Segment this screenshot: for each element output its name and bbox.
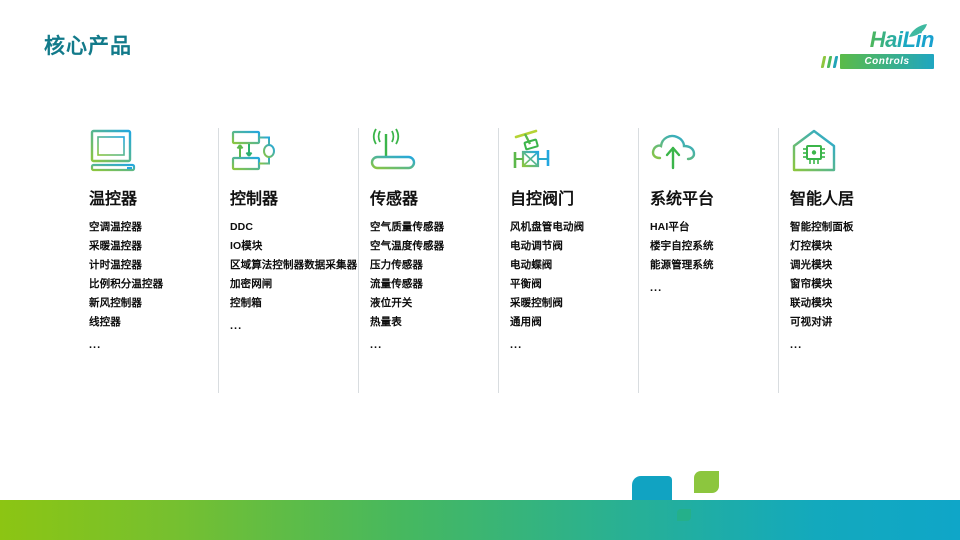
list-item: 联动模块 [790,294,918,313]
product-column-smart-home: 智能人居 智能控制面板 灯控模块 调光模块 窗帘模块 联动模块 可视对讲 ... [778,128,918,393]
list-item: 线控器 [89,313,218,332]
list-item: 空气温度传感器 [370,237,498,256]
column-item-list: 空调温控器 采暖温控器 计时温控器 比例积分温控器 新风控制器 线控器 [89,218,218,332]
decoration-bottom-bar [0,500,960,540]
list-item: 加密网闸 [230,275,358,294]
logo-bar-1 [821,56,827,68]
list-item: 灯控模块 [790,237,918,256]
list-item: HAI平台 [650,218,778,237]
column-ellipsis: ... [510,339,638,351]
list-item: 风机盘管电动阀 [510,218,638,237]
column-ellipsis: ... [790,339,918,351]
list-item: 采暖控制阀 [510,294,638,313]
list-item: 能源管理系统 [650,256,778,275]
column-title: 温控器 [89,190,218,209]
list-item: 采暖温控器 [89,237,218,256]
monitor-thermostat-icon [89,128,137,174]
list-item: 电动蝶阀 [510,256,638,275]
column-ellipsis: ... [230,320,358,332]
product-columns: 温控器 空调温控器 采暖温控器 计时温控器 比例积分温控器 新风控制器 线控器 … [78,128,938,393]
wireless-sensor-icon [370,128,418,174]
brand-logo: HaiLin Controls [822,26,934,72]
logo-bar-2 [827,56,833,68]
cloud-upload-icon [650,128,698,174]
list-item: 计时温控器 [89,256,218,275]
product-column-thermostats: 温控器 空调温控器 采暖温控器 计时温控器 比例积分温控器 新风控制器 线控器 … [78,128,218,393]
column-title: 传感器 [370,190,498,209]
list-item: 楼宇自控系统 [650,237,778,256]
leaf-icon [908,24,928,38]
decoration-notch [632,476,672,500]
decoration-square-teal [677,509,691,521]
list-item: 空调温控器 [89,218,218,237]
column-item-list: 智能控制面板 灯控模块 调光模块 窗帘模块 联动模块 可视对讲 [790,218,918,332]
product-column-controllers: 控制器 DDC IO模块 区域算法控制器数据采集器 加密网闸 控制箱 ... [218,128,358,393]
column-ellipsis: ... [370,339,498,351]
list-item: 可视对讲 [790,313,918,332]
list-item: 通用阀 [510,313,638,332]
column-item-list: 风机盘管电动阀 电动调节阀 电动蝶阀 平衡阀 采暖控制阀 通用阀 [510,218,638,332]
column-item-list: HAI平台 楼宇自控系统 能源管理系统 [650,218,778,275]
control-valve-icon [510,128,558,174]
smart-home-chip-icon [790,128,838,174]
list-item: 热量表 [370,313,498,332]
column-title: 自控阀门 [510,190,638,209]
list-item: 区域算法控制器数据采集器 [230,256,358,275]
column-ellipsis: ... [89,339,218,351]
column-title: 控制器 [230,190,358,209]
list-item: 窗帘模块 [790,275,918,294]
list-item: 电动调节阀 [510,237,638,256]
list-item: 调光模块 [790,256,918,275]
decoration-square-green [694,471,719,493]
list-item: 平衡阀 [510,275,638,294]
column-ellipsis: ... [650,282,778,294]
product-column-sensors: 传感器 空气质量传感器 空气温度传感器 压力传感器 流量传感器 液位开关 热量表… [358,128,498,393]
list-item: 液位开关 [370,294,498,313]
logo-bar-3 [833,56,839,68]
column-title: 系统平台 [650,190,778,209]
list-item: DDC [230,218,358,237]
list-item: 控制箱 [230,294,358,313]
controller-module-icon [230,128,278,174]
page-title: 核心产品 [44,36,132,57]
list-item: 流量传感器 [370,275,498,294]
list-item: 空气质量传感器 [370,218,498,237]
column-item-list: 空气质量传感器 空气温度传感器 压力传感器 流量传感器 液位开关 热量表 [370,218,498,332]
list-item: 压力传感器 [370,256,498,275]
slide-canvas: 核心产品 HaiLin Controls [0,0,960,540]
list-item: IO模块 [230,237,358,256]
logo-sub-label: Controls [840,54,934,69]
list-item: 新风控制器 [89,294,218,313]
list-item: 智能控制面板 [790,218,918,237]
product-column-valves: 自控阀门 风机盘管电动阀 电动调节阀 电动蝶阀 平衡阀 采暖控制阀 通用阀 ..… [498,128,638,393]
list-item: 比例积分温控器 [89,275,218,294]
logo-subwordmark: Controls [822,54,934,69]
column-title: 智能人居 [790,190,918,209]
column-item-list: DDC IO模块 区域算法控制器数据采集器 加密网闸 控制箱 [230,218,358,313]
product-column-platforms: 系统平台 HAI平台 楼宇自控系统 能源管理系统 ... [638,128,778,393]
